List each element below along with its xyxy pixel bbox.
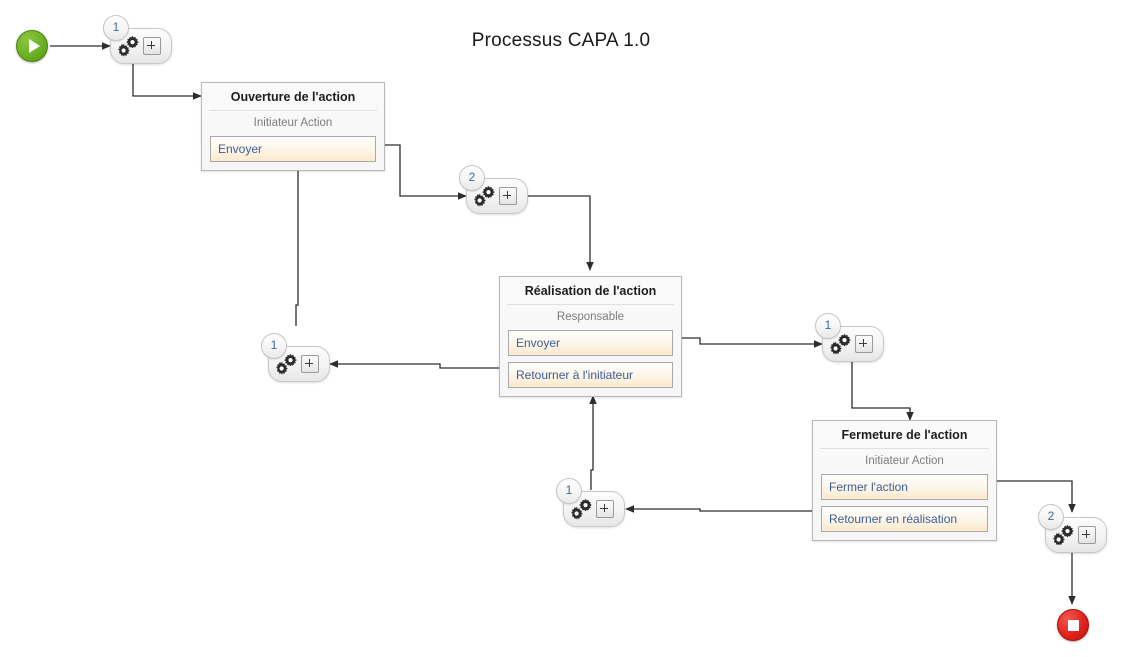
expand-plus-button[interactable]: [499, 187, 517, 205]
connector-gw5-to-realisation: [591, 396, 593, 490]
expand-plus-button[interactable]: [301, 355, 319, 373]
expand-plus-button[interactable]: [596, 500, 614, 518]
gears-icon: [117, 35, 141, 57]
gears-icon: [1052, 524, 1076, 546]
gateway-node-5[interactable]: 1: [563, 491, 625, 527]
task-actions: Fermer l'action Retourner en réalisation: [813, 474, 996, 540]
expand-plus-button[interactable]: [855, 335, 873, 353]
task-action-button[interactable]: Envoyer: [210, 136, 376, 162]
connector-gw2-to-realisation: [528, 196, 590, 270]
end-event[interactable]: [1057, 609, 1089, 641]
connector-gw4-to-ouverture: [296, 162, 298, 326]
gateway-node-1[interactable]: 1: [110, 28, 172, 64]
gateway-node-6[interactable]: 2: [1045, 517, 1107, 553]
gears-icon: [829, 333, 853, 355]
play-icon: [29, 39, 40, 53]
connector-realisation-to-gw3: [682, 338, 822, 344]
task-fermeture-de-l-action[interactable]: Fermeture de l'action Initiateur Action …: [812, 420, 997, 541]
task-actions: Envoyer: [202, 136, 384, 170]
task-title: Fermeture de l'action: [820, 421, 989, 449]
expand-plus-button[interactable]: [1078, 526, 1096, 544]
gears-icon: [275, 353, 299, 375]
connector-ouverture-to-gw2: [384, 145, 466, 196]
connector-gw3-to-fermeture: [852, 362, 910, 420]
gears-icon: [570, 498, 594, 520]
task-actions: Envoyer Retourner à l'initiateur: [500, 330, 681, 396]
task-action-button[interactable]: Envoyer: [508, 330, 673, 356]
connector-fermeture-to-gw5: [626, 509, 812, 511]
connector-fermeture-to-gw6: [997, 481, 1072, 512]
task-role: Responsable: [500, 305, 681, 330]
connector-realisation-to-gw4: [330, 364, 499, 368]
stop-icon: [1068, 620, 1079, 631]
connector-gw1-to-ouverture: [133, 64, 201, 96]
task-title: Ouverture de l'action: [209, 83, 377, 111]
start-event[interactable]: [16, 30, 48, 62]
workflow-canvas: Processus CAPA 1.0 1 Ouverture de l'acti…: [0, 0, 1122, 657]
task-ouverture-de-l-action[interactable]: Ouverture de l'action Initiateur Action …: [201, 82, 385, 171]
task-action-button[interactable]: Fermer l'action: [821, 474, 988, 500]
gears-icon: [473, 185, 497, 207]
task-action-button[interactable]: Retourner en réalisation: [821, 506, 988, 532]
task-role: Initiateur Action: [813, 449, 996, 474]
task-realisation-de-l-action[interactable]: Réalisation de l'action Responsable Envo…: [499, 276, 682, 397]
gateway-node-2[interactable]: 2: [466, 178, 528, 214]
gateway-node-4[interactable]: 1: [268, 346, 330, 382]
gateway-node-3[interactable]: 1: [822, 326, 884, 362]
task-action-button[interactable]: Retourner à l'initiateur: [508, 362, 673, 388]
expand-plus-button[interactable]: [143, 37, 161, 55]
task-role: Initiateur Action: [202, 111, 384, 136]
task-title: Réalisation de l'action: [507, 277, 674, 305]
